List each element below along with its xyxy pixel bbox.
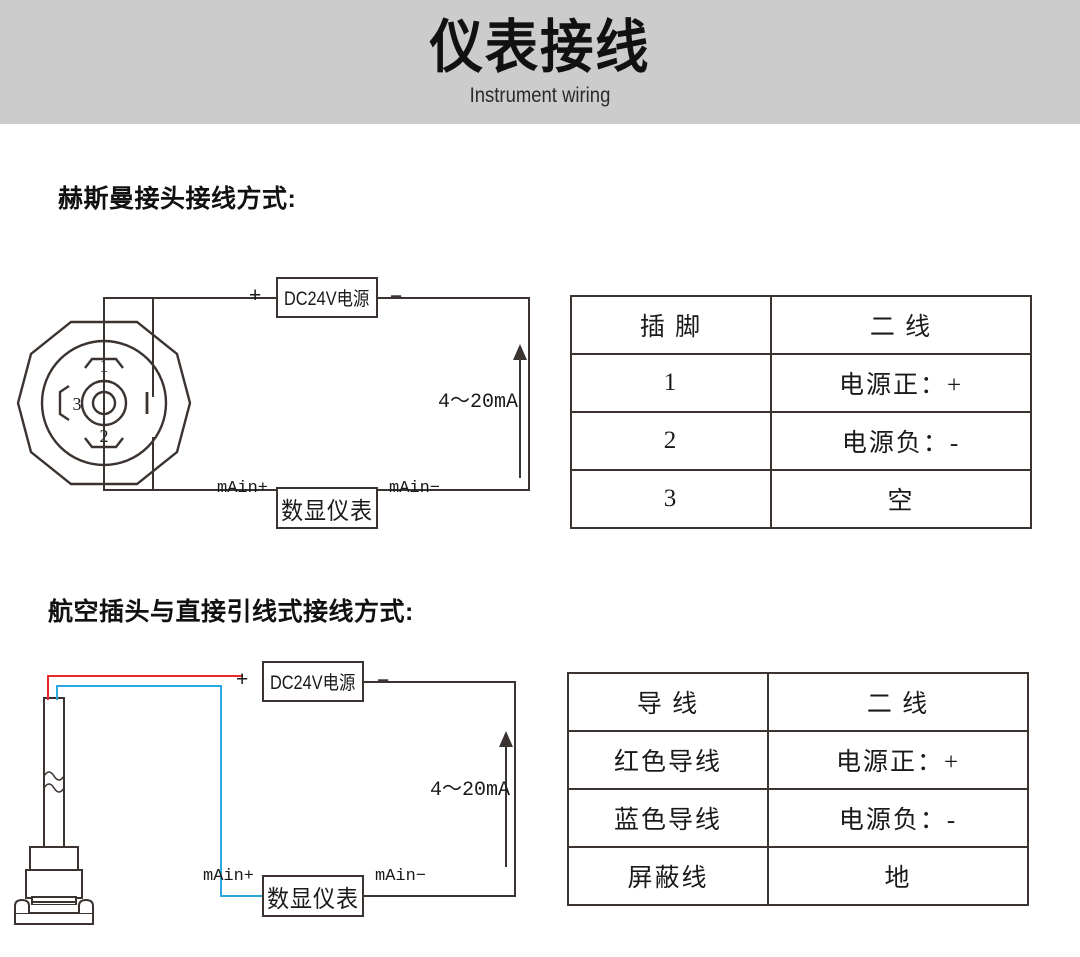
current-arrow-head-icon: [513, 344, 527, 360]
meter-input-plus-label-2: mAin+: [203, 867, 254, 886]
digital-meter-box: 数显仪表: [276, 487, 378, 529]
dc-power-supply-label: DC24V电源: [284, 284, 369, 311]
table-row: 红色导线 电源正：+: [568, 731, 1028, 789]
dc-power-supply-box: DC24V电源: [276, 277, 378, 318]
digital-meter-label-2: 数显仪表: [267, 879, 359, 914]
meter-input-minus-label-2: mAin−: [375, 867, 426, 886]
wire-connector-left-vertical: [103, 297, 105, 491]
table-cell-value: 电源正：+: [771, 354, 1031, 412]
table-header-two-wire: 二 线: [768, 673, 1028, 731]
red-wire-horizontal: [47, 675, 243, 677]
blue-wire-to-meter: [220, 895, 262, 897]
current-range-label: 4～20mA: [438, 384, 518, 414]
table-header-wire-name: 导 线: [568, 673, 768, 731]
wire2-right-vertical: [514, 681, 516, 897]
wire-pin1-vertical: [152, 297, 154, 397]
table-row: 2 电源负：-: [571, 412, 1031, 470]
table-cell-pin: 2: [571, 412, 771, 470]
table-cell-pin: 3: [571, 470, 771, 528]
section-title-hirschmann: 赫斯曼接头接线方式:: [58, 179, 296, 215]
wire2-meter-to-right: [364, 895, 516, 897]
table-cell-value: 电源负：-: [771, 412, 1031, 470]
table-cell-wire-name: 屏蔽线: [568, 847, 768, 905]
dc-power-supply-box-2: DC24V电源: [262, 661, 364, 702]
wire-color-assignment-table: 导 线 二 线 红色导线 电源正：+ 蓝色导线 电源负：- 屏蔽线 地: [567, 672, 1029, 906]
table-cell-value: 电源正：+: [768, 731, 1028, 789]
blue-wire-horizontal-top: [56, 685, 222, 687]
pin-assignment-table: 插 脚 二 线 1 电源正：+ 2 电源负：- 3 空: [570, 295, 1032, 529]
table-cell-pin: 1: [571, 354, 771, 412]
table-row: 1 电源正：+: [571, 354, 1031, 412]
psu-minus-terminal-label-2: −: [377, 669, 389, 693]
table-header-pin: 插 脚: [571, 296, 771, 354]
sensor-flange-base-icon: [14, 897, 224, 937]
current-range-label-2: 4～20mA: [430, 772, 510, 802]
page-subtitle: Instrument wiring: [65, 84, 1015, 108]
table-cell-value: 电源负：-: [768, 789, 1028, 847]
section-title-aviation-plug: 航空插头与直接引线式接线方式:: [48, 592, 414, 628]
table-cell-value: 空: [771, 470, 1031, 528]
table-cell-wire-name: 红色导线: [568, 731, 768, 789]
dc-power-supply-label-2: DC24V电源: [270, 668, 355, 695]
table-row: 3 空: [571, 470, 1031, 528]
blue-wire-vertical-riser: [56, 685, 58, 700]
psu-minus-terminal-label: −: [390, 285, 402, 309]
meter-input-minus-label: mAin−: [389, 479, 440, 498]
table-cell-wire-name: 蓝色导线: [568, 789, 768, 847]
current-arrow-shaft: [519, 360, 521, 478]
table-row-header: 插 脚 二 线: [571, 296, 1031, 354]
page-title: 仪表接线: [43, 18, 1037, 79]
table-row: 屏蔽线 地: [568, 847, 1028, 905]
table-row-header: 导 线 二 线: [568, 673, 1028, 731]
psu-plus-terminal-label: +: [249, 284, 261, 308]
red-wire-vertical-riser: [47, 675, 49, 700]
digital-meter-box-2: 数显仪表: [262, 875, 364, 917]
blue-wire-vertical-drop: [220, 685, 222, 897]
current-arrow-shaft-2: [505, 747, 507, 867]
digital-meter-label: 数显仪表: [281, 491, 373, 526]
meter-input-plus-label: mAin+: [217, 479, 268, 498]
wire-right-vertical: [528, 297, 530, 491]
direct-lead-sensor-icon: [14, 690, 224, 905]
table-cell-value: 地: [768, 847, 1028, 905]
current-arrow-head-icon-2: [499, 731, 513, 747]
psu-plus-terminal-label-2: +: [236, 668, 248, 692]
table-row: 蓝色导线 电源负：-: [568, 789, 1028, 847]
svg-text:3: 3: [73, 394, 82, 414]
wire-pin2-vertical: [152, 437, 154, 491]
table-header-wire: 二 线: [771, 296, 1031, 354]
